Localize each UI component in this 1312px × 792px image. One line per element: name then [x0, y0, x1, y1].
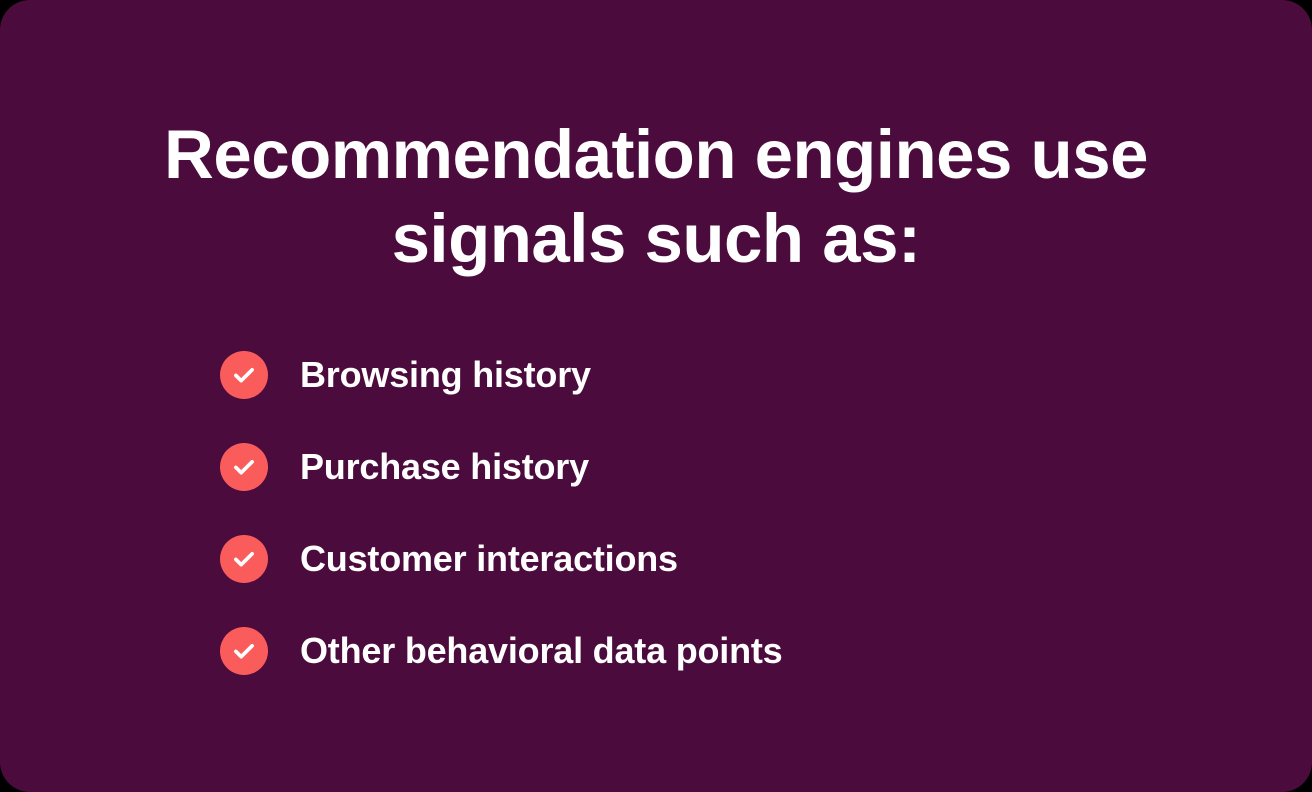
signals-checklist: Browsing history Purchase history Custom…: [220, 351, 783, 675]
list-item-label: Purchase history: [300, 443, 589, 491]
list-item-label: Customer interactions: [300, 535, 678, 583]
list-item: Other behavioral data points: [220, 627, 783, 675]
check-icon: [220, 627, 268, 675]
list-item: Customer interactions: [220, 535, 783, 583]
list-item: Browsing history: [220, 351, 783, 399]
check-icon: [220, 443, 268, 491]
list-item-label: Other behavioral data points: [300, 627, 783, 675]
list-item: Purchase history: [220, 443, 783, 491]
list-item-label: Browsing history: [300, 351, 591, 399]
check-icon: [220, 535, 268, 583]
info-card: Recommendation engines use signals such …: [0, 0, 1312, 792]
check-icon: [220, 351, 268, 399]
page-title: Recommendation engines use signals such …: [0, 113, 1312, 281]
